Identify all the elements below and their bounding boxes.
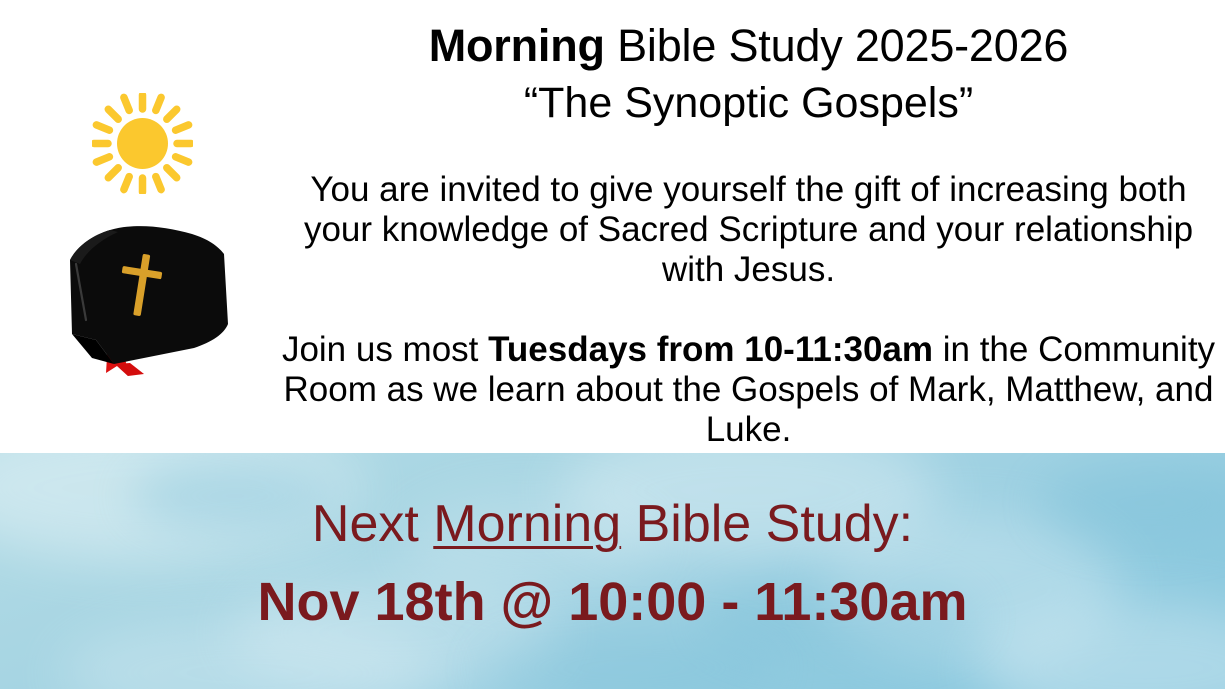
bible-study-announcement-slide: Morning Bible Study 2025-2026 “The Synop… — [0, 0, 1225, 689]
banner-text-block: Next Morning Bible Study: Nov 18th @ 10:… — [0, 453, 1225, 689]
next-suffix: Bible Study: — [621, 495, 913, 553]
next-prefix: Next — [312, 495, 433, 553]
page-subtitle: “The Synoptic Gospels” — [272, 78, 1225, 128]
headline-text-column: Morning Bible Study 2025-2026 “The Synop… — [272, 0, 1225, 453]
next-session-banner: Next Morning Bible Study: Nov 18th @ 10:… — [0, 453, 1225, 689]
title-rest: Bible Study 2025-2026 — [605, 20, 1068, 71]
bible-book-icon — [52, 212, 242, 395]
next-session-label: Next Morning Bible Study: — [0, 495, 1225, 553]
next-underlined-word: Morning — [433, 495, 621, 553]
invite-paragraph: You are invited to give yourself the gif… — [272, 170, 1225, 290]
next-session-datetime: Nov 18th @ 10:00 - 11:30am — [0, 571, 1225, 633]
schedule-paragraph: Join us most Tuesdays from 10-11:30am in… — [272, 330, 1225, 450]
sun-icon — [92, 93, 193, 194]
page-title: Morning Bible Study 2025-2026 — [272, 21, 1225, 71]
join-prefix: Join us most — [282, 330, 488, 369]
top-white-section: Morning Bible Study 2025-2026 “The Synop… — [0, 0, 1225, 453]
icon-column — [0, 0, 270, 453]
title-strong-word: Morning — [429, 20, 605, 71]
join-bold-time: Tuesdays from 10-11:30am — [488, 330, 933, 369]
